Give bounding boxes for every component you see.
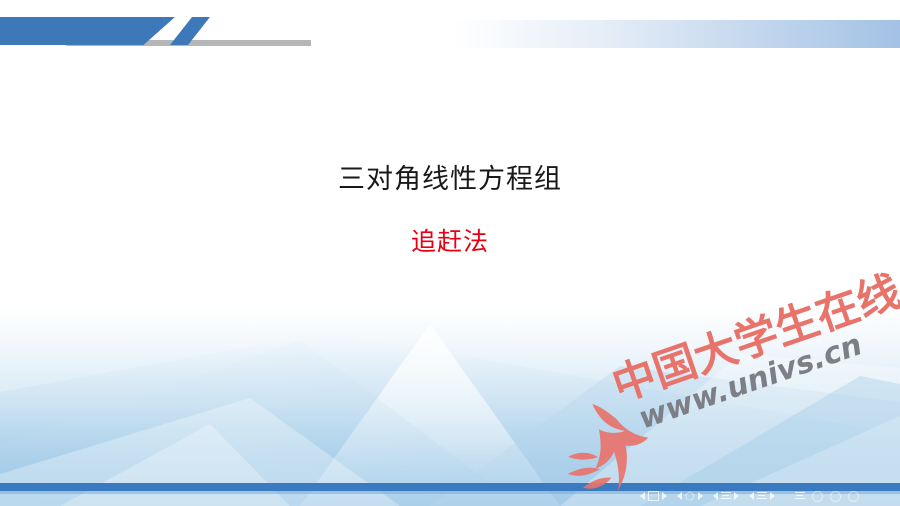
- prev-arrow-icon[interactable]: [749, 492, 754, 500]
- next-arrow-icon[interactable]: [770, 492, 775, 500]
- bottom-decoration: [0, 306, 900, 506]
- page-subtitle: 追赶法: [0, 224, 900, 260]
- circle-icon[interactable]: [848, 491, 859, 502]
- page-title: 三对角线性方程组: [0, 160, 900, 200]
- next-arrow-icon[interactable]: [698, 492, 703, 500]
- lines-icon[interactable]: [757, 492, 767, 501]
- prev-arrow-icon[interactable]: [677, 492, 682, 500]
- nav-extras[interactable]: [795, 491, 859, 502]
- nav-group-4[interactable]: [749, 492, 775, 501]
- next-arrow-icon[interactable]: [734, 492, 739, 500]
- lines-icon[interactable]: [721, 492, 731, 501]
- slide-navigation-bar[interactable]: ⬠: [640, 489, 859, 503]
- bottom-geometric-shapes: [0, 306, 900, 506]
- square-icon[interactable]: [648, 491, 659, 501]
- prev-arrow-icon[interactable]: [640, 492, 645, 500]
- title-block: 三对角线性方程组 追赶法: [0, 160, 900, 260]
- prev-arrow-icon[interactable]: [713, 492, 718, 500]
- stack-icon[interactable]: [795, 492, 805, 501]
- slide-canvas: 三对角线性方程组 追赶法: [0, 0, 900, 506]
- nav-group-2[interactable]: ⬠: [677, 491, 703, 502]
- nav-group-1[interactable]: [640, 491, 667, 501]
- nav-group-3[interactable]: [713, 492, 739, 501]
- next-arrow-icon[interactable]: [662, 492, 667, 500]
- pentagon-icon[interactable]: ⬠: [685, 491, 695, 502]
- search-icon[interactable]: [830, 491, 841, 502]
- circle-icon[interactable]: [812, 491, 823, 502]
- header-gradient-band: [455, 20, 900, 48]
